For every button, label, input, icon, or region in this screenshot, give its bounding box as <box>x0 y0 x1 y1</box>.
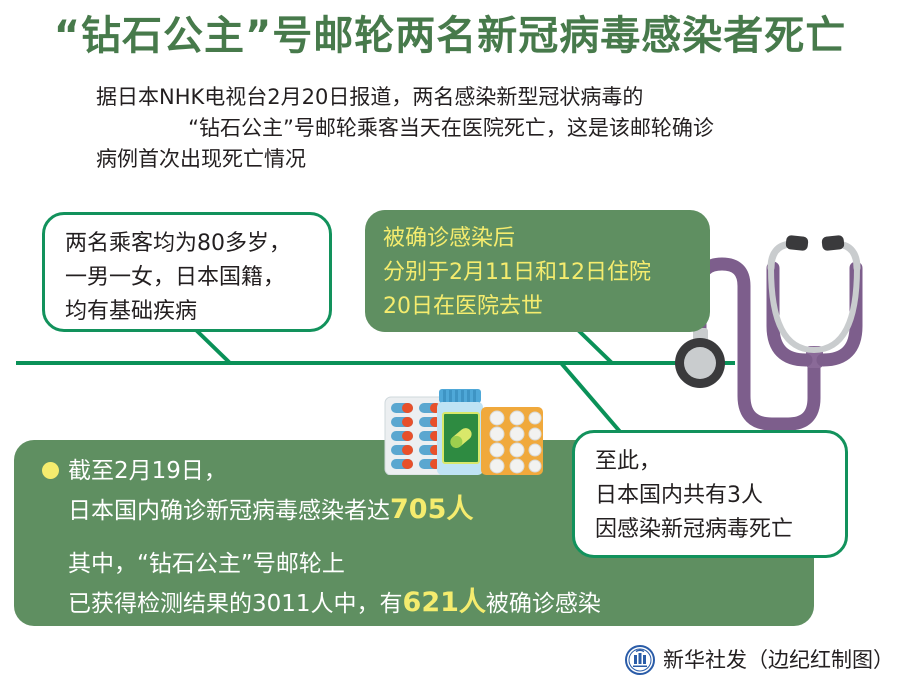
stats-line-3: 其中，“钻石公主”号邮轮上 <box>68 549 345 579</box>
page-title: “钻石公主”号邮轮两名新冠病毒感染者死亡 <box>0 10 900 62</box>
callout-left-line-3: 均有基础疾病 <box>65 295 291 329</box>
stats-line-2-number: 705人 <box>390 494 473 525</box>
callout-left-line-1: 两名乘客均为80多岁， <box>65 227 291 261</box>
callout-middle: 被确诊感染后 分别于2月11日和12日住院 20日在医院去世 <box>365 210 710 332</box>
callout-right-line-3: 因感染新冠病毒死亡 <box>595 513 793 547</box>
callout-middle-line-3: 20日在医院去世 <box>383 290 651 324</box>
callout-middle-text: 被确诊感染后 分别于2月11日和12日住院 20日在医院去世 <box>383 222 651 324</box>
stats-line-4-prefix: 已获得检测结果的3011人中，有 <box>68 591 403 617</box>
callout-middle-line-1: 被确诊感染后 <box>383 222 651 256</box>
subtitle-line-3: 病例首次出现死亡情况 <box>96 144 806 175</box>
xinhua-logo <box>625 645 655 675</box>
callout-right-line-2: 日本国内共有3人 <box>595 479 793 513</box>
stats-line-1-text: 截至2月19日， <box>68 458 227 484</box>
stats-line-4-suffix: 被确诊感染 <box>486 591 601 617</box>
page-subtitle: 据日本NHK电视台2月20日报道，两名感染新型冠状病毒的 “钻石公主”号邮轮乘客… <box>96 82 806 175</box>
callout-left-text: 两名乘客均为80多岁， 一男一女，日本国籍， 均有基础疾病 <box>65 227 291 329</box>
stats-line-2: 日本国内确诊新冠病毒感染者达705人 <box>68 495 473 526</box>
stats-line-4-number: 621人 <box>403 587 486 618</box>
callout-left: 两名乘客均为80多岁， 一男一女，日本国籍， 均有基础疾病 <box>42 212 332 332</box>
stats-line-1: 截至2月19日， <box>68 456 227 486</box>
infographic-canvas: “钻石公主”号邮轮两名新冠病毒感染者死亡 据日本NHK电视台2月20日报道，两名… <box>0 0 900 688</box>
callout-middle-line-2: 分别于2月11日和12日住院 <box>383 256 651 290</box>
stats-line-2-prefix: 日本国内确诊新冠病毒感染者达 <box>68 498 390 524</box>
callout-right-line-1: 至此， <box>595 445 793 479</box>
callout-right-text: 至此， 日本国内共有3人 因感染新冠病毒死亡 <box>595 445 793 547</box>
subtitle-line-1: 据日本NHK电视台2月20日报道，两名感染新型冠状病毒的 <box>96 82 806 113</box>
medicine-illustration <box>383 375 563 475</box>
credit-text: 新华社发（边纪红制图） <box>663 645 894 675</box>
callout-left-line-2: 一男一女，日本国籍， <box>65 261 291 295</box>
stats-line-3-text: 其中，“钻石公主”号邮轮上 <box>68 551 345 577</box>
stats-line-4: 已获得检测结果的3011人中，有621人被确诊感染 <box>68 588 601 619</box>
subtitle-line-2: “钻石公主”号邮轮乘客当天在医院死亡，这是该邮轮确诊 <box>96 113 806 144</box>
stats-bullet-icon <box>42 462 59 479</box>
callout-right: 至此， 日本国内共有3人 因感染新冠病毒死亡 <box>572 430 848 558</box>
